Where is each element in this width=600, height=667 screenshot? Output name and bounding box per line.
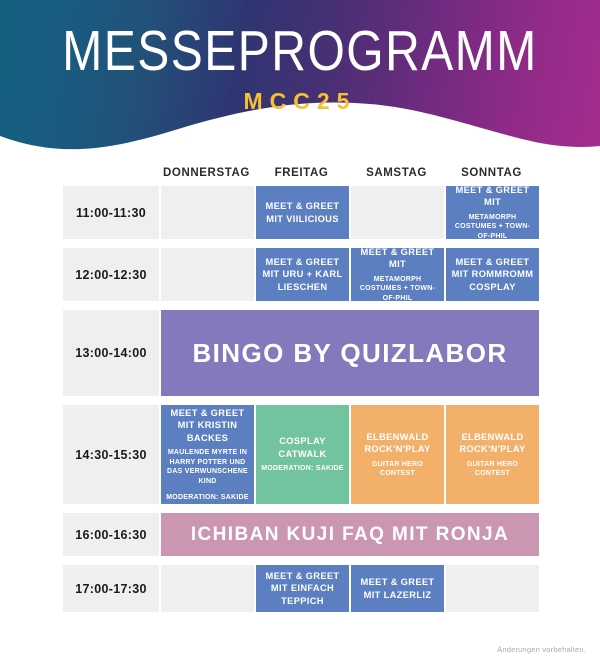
schedule-cell-event[interactable]: MEET & GREET MITMETAMORPH COSTUMES + TOW… [351,248,444,301]
schedule-cell-event[interactable]: ELBENWALD ROCK'N'PLAYGUITAR HERO CONTEST [351,405,444,504]
schedule-cell-empty [161,186,254,239]
time-slot-label: 12:00-12:30 [63,248,159,301]
schedule-cell-event[interactable]: COSPLAY CATWALKMODERATION: SAKIDE [256,405,349,504]
day-header-donnerstag: DONNERSTAG [159,167,254,179]
schedule-rows: 11:00-11:30MEET & GREET MIT VIILICIOUSME… [63,186,539,612]
schedule-row: 12:00-12:30MEET & GREET MIT URU + KARL L… [63,248,539,301]
time-slot-label: 13:00-14:00 [63,310,159,396]
event-subtitle: MODERATION: SAKIDE [261,464,344,473]
event-title: MEET & GREET MIT LAZERLIZ [354,576,441,601]
schedule-cell-event[interactable]: MEET & GREET MIT LAZERLIZ [351,565,444,612]
schedule-cell-empty [161,248,254,301]
event-title: MEET & GREET MIT URU + KARL LIESCHEN [259,256,346,294]
schedule-day-cells: MEET & GREET MIT KRISTIN BACKESMAULENDE … [161,405,539,504]
day-header-sonntag: SONNTAG [444,167,539,179]
schedule-row: 11:00-11:30MEET & GREET MIT VIILICIOUSME… [63,186,539,239]
page-header: MESSEPROGRAMM MCC25 [0,0,600,160]
schedule-day-cells: MEET & GREET MIT URU + KARL LIESCHENMEET… [161,248,539,301]
schedule-banner-event[interactable]: ICHIBAN KUJI FAQ MIT RONJA [161,513,539,556]
schedule-banner-event[interactable]: BINGO BY QUIZLABOR [161,310,539,396]
schedule-table: DONNERSTAG FREITAG SAMSTAG SONNTAG 11:00… [63,160,539,621]
schedule-cell-event[interactable]: MEET & GREET MIT EINFACH TEPPICH [256,565,349,612]
event-subtitle: GUITAR HERO CONTEST [354,460,441,479]
event-subtitle: METAMORPH COSTUMES + TOWN-OF-PHIL [449,213,536,241]
event-title: MEET & GREET MIT KRISTIN BACKES [164,407,251,445]
schedule-day-cells: MEET & GREET MIT EINFACH TEPPICHMEET & G… [161,565,539,612]
event-subtitle: MAULENDE MYRTE IN HARRY POTTER UND DAS V… [164,448,251,486]
event-subtitle: METAMORPH COSTUMES + TOWN-OF-PHIL [354,275,441,303]
schedule-cell-empty [161,565,254,612]
event-title: MEET & GREET MIT ROMMROMM COSPLAY [449,256,536,294]
schedule-cell-event[interactable]: MEET & GREET MIT VIILICIOUS [256,186,349,239]
schedule-cell-event[interactable]: MEET & GREET MIT ROMMROMM COSPLAY [446,248,539,301]
schedule-row: 17:00-17:30MEET & GREET MIT EINFACH TEPP… [63,565,539,612]
event-title: MEET & GREET MIT [354,246,441,271]
event-title: ELBENWALD ROCK'N'PLAY [449,431,536,456]
schedule-cell-empty [351,186,444,239]
time-slot-label: 11:00-11:30 [63,186,159,239]
time-slot-label: 17:00-17:30 [63,565,159,612]
schedule-row: 14:30-15:30MEET & GREET MIT KRISTIN BACK… [63,405,539,504]
page-subtitle: MCC25 [0,90,600,113]
event-title: MEET & GREET MIT [449,184,536,209]
schedule-cell-event[interactable]: MEET & GREET MITMETAMORPH COSTUMES + TOW… [446,186,539,239]
page-title: MESSEPROGRAMM [0,24,600,81]
event-title: COSPLAY CATWALK [259,435,346,460]
time-slot-label: 16:00-16:30 [63,513,159,556]
event-title: ELBENWALD ROCK'N'PLAY [354,431,441,456]
day-header-row: DONNERSTAG FREITAG SAMSTAG SONNTAG [63,160,539,186]
schedule-cell-event[interactable]: ELBENWALD ROCK'N'PLAYGUITAR HERO CONTEST [446,405,539,504]
schedule-cell-event[interactable]: MEET & GREET MIT KRISTIN BACKESMAULENDE … [161,405,254,504]
event-subtitle: GUITAR HERO CONTEST [449,460,536,479]
time-slot-label: 14:30-15:30 [63,405,159,504]
day-header-freitag: FREITAG [254,167,349,179]
schedule-cell-empty [446,565,539,612]
footnote-disclaimer: Änderungen vorbehalten. [497,645,586,654]
day-header-samstag: SAMSTAG [349,167,444,179]
header-title-block: MESSEPROGRAMM MCC25 [0,24,600,113]
event-title: MEET & GREET MIT VIILICIOUS [259,200,346,225]
event-title: MEET & GREET MIT EINFACH TEPPICH [259,570,346,608]
schedule-day-cells: MEET & GREET MIT VIILICIOUSMEET & GREET … [161,186,539,239]
event-moderation: MODERATION: SAKIDE [166,493,249,502]
schedule-row: 16:00-16:30ICHIBAN KUJI FAQ MIT RONJA [63,513,539,556]
schedule-row: 13:00-14:00BINGO BY QUIZLABOR [63,310,539,396]
schedule-cell-event[interactable]: MEET & GREET MIT URU + KARL LIESCHEN [256,248,349,301]
